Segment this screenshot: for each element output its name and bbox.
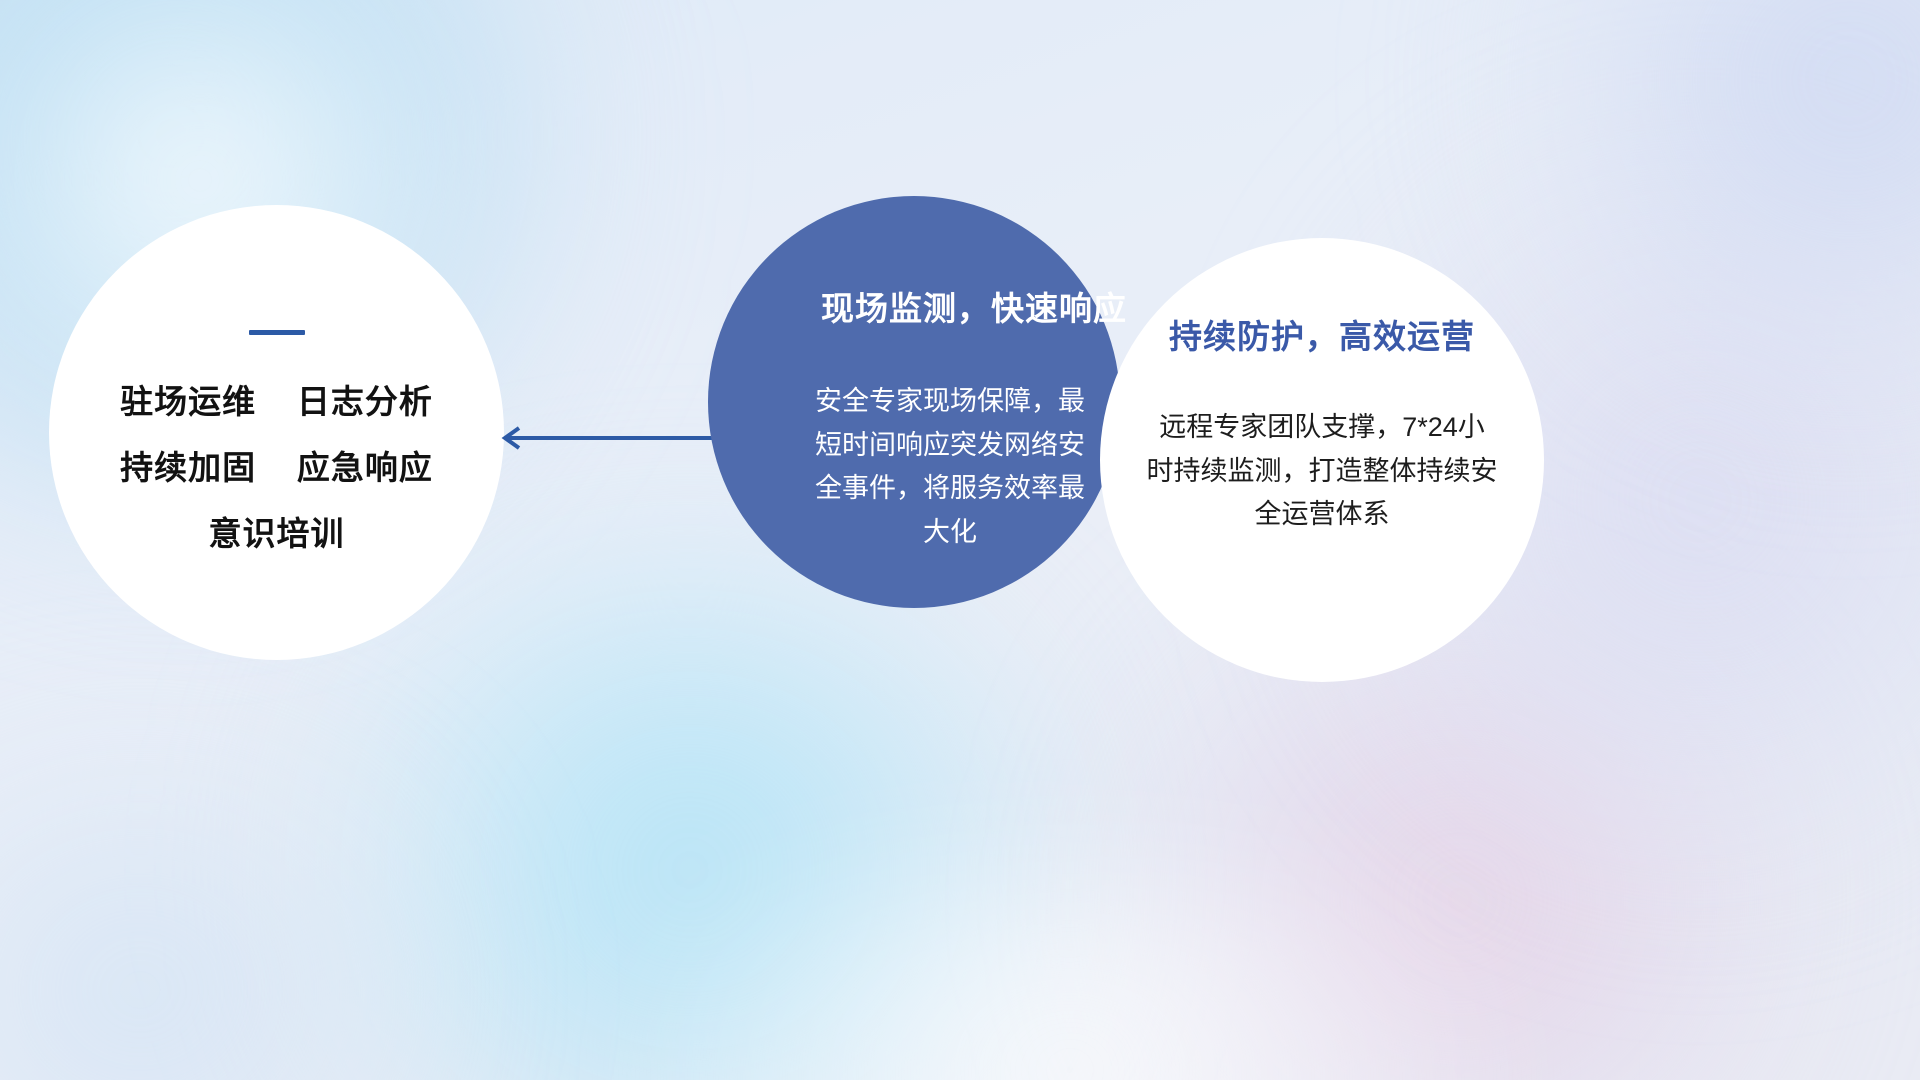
continuous-protection-circle[interactable]: 持续防护，高效运营 远程专家团队支撑，7*24小时持续监测，打造整体持续安全运营… [1100, 238, 1544, 682]
onsite-monitoring-content: 现场监测，快速响应 安全专家现场保障，最短时间响应突发网络安全事件，将服务效率最… [708, 196, 1120, 608]
continuous-protection-title: 持续防护，高效运营 [1169, 310, 1475, 358]
continuous-protection-content: 持续防护，高效运营 远程专家团队支撑，7*24小时持续监测，打造整体持续安全运营… [1100, 238, 1544, 682]
onsite-monitoring-circle[interactable]: 现场监测，快速响应 安全专家现场保障，最短时间响应突发网络安全事件，将服务效率最… [708, 196, 1120, 608]
arrow-icon [492, 424, 718, 452]
capability-line-3: 意识培训 [209, 517, 345, 550]
capabilities-circle[interactable]: 驻场运维 日志分析 持续加固 应急响应 意识培训 [49, 205, 504, 660]
capability-line-2: 持续加固 应急响应 [120, 451, 433, 484]
leftward-flow-arrow [492, 424, 718, 452]
onsite-monitoring-title: 现场监测，快速响应 [821, 282, 1127, 330]
slide-canvas: 驻场运维 日志分析 持续加固 应急响应 意识培训 现场监测，快速响应 安全专家现… [0, 0, 1920, 1080]
capability-line-1: 驻场运维 日志分析 [120, 385, 433, 418]
continuous-protection-body: 远程专家团队支撑，7*24小时持续监测，打造整体持续安全运营体系 [1146, 406, 1498, 537]
onsite-monitoring-body: 安全专家现场保障，最短时间响应突发网络安全事件，将服务效率最大化 [814, 380, 1086, 555]
divider-rule [249, 330, 305, 335]
capabilities-content: 驻场运维 日志分析 持续加固 应急响应 意识培训 [49, 205, 504, 660]
